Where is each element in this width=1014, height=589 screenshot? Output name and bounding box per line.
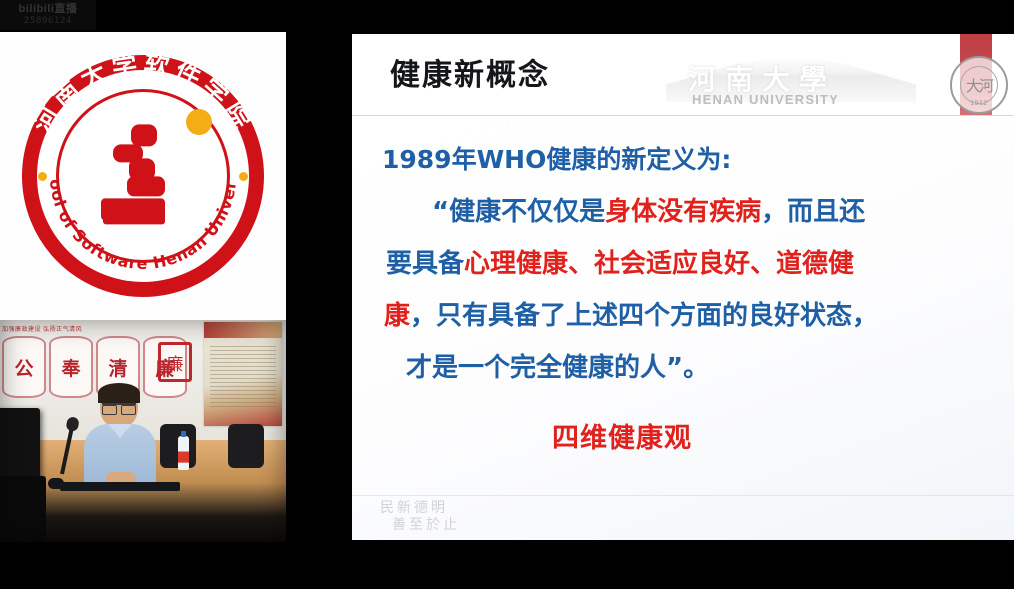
slide-conclusion: 四维健康观 [362, 416, 988, 455]
slide-line-5-text: 才是一个完全健康的人”。 [406, 353, 709, 383]
bilibili-watermark: bilibili直播 25896124 [0, 0, 96, 30]
scroll-card: 公 [2, 336, 46, 398]
office-chair [228, 424, 264, 468]
mouse [48, 478, 64, 489]
university-seal-icon: 大河 1912 [950, 56, 1008, 114]
university-name-cn: 河南大學 [688, 58, 836, 98]
slide-line-4-highlight: 康 [384, 301, 410, 331]
bilibili-wordmark: bilibili [19, 3, 55, 15]
school-seal-logo: 河南大学软件学院 School of Software Henan Univer… [18, 51, 268, 301]
desk-monitor [0, 408, 40, 486]
slide-line-3-highlight: 心理健康、社会适应良好、道德健 [464, 249, 854, 279]
slide-header: 健康新概念 河南大學 HENAN UNIVERSITY 大河 1912 [352, 34, 1014, 116]
logo-dot-right [239, 172, 248, 181]
slide-line-2-part-a: “健康不仅仅是 [432, 197, 605, 227]
bilibili-logo-text: bilibili直播 [19, 4, 78, 15]
slide-line-2: “健康不仅仅是身体没有疾病，而且还 [362, 186, 988, 238]
slide-line-2-part-c: ，而且还 [761, 197, 865, 227]
university-branding-watermark: 河南大學 HENAN UNIVERSITY [652, 40, 952, 114]
room-id: 25896124 [24, 17, 72, 26]
stream-viewport: bilibili直播 25896124 河南大学软件学院 School of S… [0, 0, 1014, 589]
seal-center-glyph: 大河 [960, 66, 998, 104]
motto-line-2: 善至於止 [380, 517, 460, 534]
camera-scene: 加强廉政建设 弘扬正气清风 公 奉 清 廉 廉 [0, 320, 286, 542]
poster-band [204, 322, 282, 338]
slide-line-5: 才是一个完全健康的人”。 [362, 342, 988, 394]
speaker-figure [84, 386, 156, 496]
slide-line-2-highlight: 身体没有疾病 [605, 197, 761, 227]
slide-title: 健康新概念 [390, 50, 550, 94]
logo-dot-left [38, 172, 47, 181]
slide-line-3-part-a: 要具备 [386, 249, 464, 279]
slide-line-1: 1989年WHO健康的新定义为: [362, 134, 988, 186]
wall-seal-stamp: 廉 [158, 342, 192, 382]
desk-monitor-secondary [0, 476, 46, 542]
university-name-en: HENAN UNIVERSITY [692, 92, 839, 107]
slide-line-3: 要具备心理健康、社会适应良好、道德健 [362, 238, 988, 290]
campus-gate-illustration [666, 56, 916, 102]
institution-logo-panel: 河南大学软件学院 School of Software Henan Univer… [0, 32, 286, 320]
wall-banner-text: 加强廉政建设 弘扬正气清风 [2, 322, 162, 334]
bilibili-live-label: 直播 [54, 3, 77, 15]
slide-body: 1989年WHO健康的新定义为: “健康不仅仅是身体没有疾病，而且还 要具备心理… [352, 116, 1014, 540]
university-motto-watermark: 民新德明 善至於止 [380, 500, 460, 534]
slide-line-1-text: 1989年WHO健康的新定义为: [382, 145, 731, 174]
speaker-glasses [102, 403, 136, 411]
slide-line-4-part-b: ，只有具备了上述四个方面的良好状态， [410, 301, 878, 331]
poster-text-lines [210, 346, 276, 410]
water-bottle [178, 436, 189, 470]
slide-footer-divider [352, 495, 1014, 496]
keyboard [60, 482, 180, 491]
presentation-slide: 健康新概念 河南大學 HENAN UNIVERSITY 大河 1912 1989… [352, 34, 1014, 540]
wall-poster [204, 322, 282, 426]
speaker-hair [98, 383, 140, 403]
seal-founding-year: 1912 [952, 100, 1006, 107]
motto-line-1: 民新德明 [380, 500, 460, 517]
speaker-camera-feed: 加强廉政建设 弘扬正气清风 公 奉 清 廉 廉 [0, 320, 286, 542]
slide-line-4: 康，只有具备了上述四个方面的良好状态， [362, 290, 988, 342]
logo-stylized-glyph [83, 118, 203, 238]
